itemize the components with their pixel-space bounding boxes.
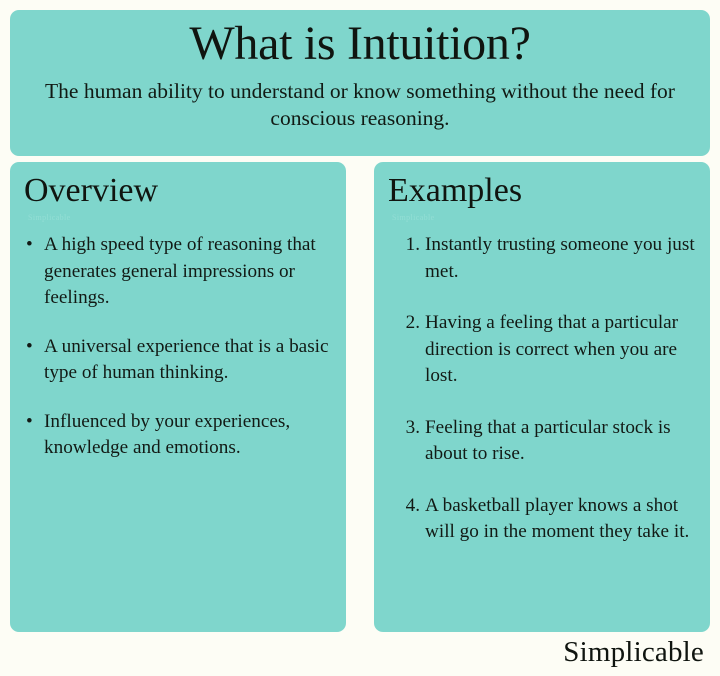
- list-number: 4.: [396, 493, 420, 520]
- examples-panel: Examples Simplicable 1. Instantly trusti…: [374, 162, 710, 632]
- list-item: 1. Instantly trusting someone you just m…: [396, 232, 698, 285]
- bullet-icon: •: [26, 409, 33, 436]
- list-item: • A high speed type of reasoning that ge…: [24, 232, 334, 312]
- list-number: 1.: [396, 232, 420, 259]
- infographic-root: What is Intuition? The human ability to …: [0, 0, 720, 676]
- list-item-text: A high speed type of reasoning that gene…: [44, 234, 316, 308]
- overview-list: • A high speed type of reasoning that ge…: [24, 232, 334, 462]
- overview-heading: Overview: [24, 170, 334, 212]
- overview-panel: Overview Simplicable • A high speed type…: [10, 162, 346, 632]
- list-item: 4. A basketball player knows a shot will…: [396, 493, 698, 546]
- list-item-text: Feeling that a particular stock is about…: [425, 417, 671, 465]
- list-item-text: Having a feeling that a particular direc…: [425, 312, 678, 386]
- columns-container: Overview Simplicable • A high speed type…: [10, 162, 710, 632]
- examples-watermark: Simplicable: [392, 213, 698, 223]
- list-item-text: Influenced by your experiences, knowledg…: [44, 411, 290, 459]
- header-panel: What is Intuition? The human ability to …: [10, 10, 710, 156]
- page-title: What is Intuition?: [28, 16, 692, 72]
- overview-watermark: Simplicable: [28, 213, 334, 223]
- list-number: 3.: [396, 415, 420, 442]
- list-item: • Influenced by your experiences, knowle…: [24, 409, 334, 462]
- page-subtitle: The human ability to understand or know …: [40, 78, 680, 132]
- list-item-text: Instantly trusting someone you just met.: [425, 234, 695, 282]
- examples-heading: Examples: [388, 170, 698, 212]
- brand-logo: Simplicable: [563, 634, 704, 670]
- list-number: 2.: [396, 310, 420, 337]
- examples-list: 1. Instantly trusting someone you just m…: [396, 232, 698, 546]
- bullet-icon: •: [26, 334, 33, 361]
- list-item-text: A universal experience that is a basic t…: [44, 336, 329, 384]
- list-item: • A universal experience that is a basic…: [24, 334, 334, 387]
- list-item-text: A basketball player knows a shot will go…: [425, 495, 689, 543]
- list-item: 2. Having a feeling that a particular di…: [396, 310, 698, 390]
- list-item: 3. Feeling that a particular stock is ab…: [396, 415, 698, 468]
- bullet-icon: •: [26, 232, 33, 259]
